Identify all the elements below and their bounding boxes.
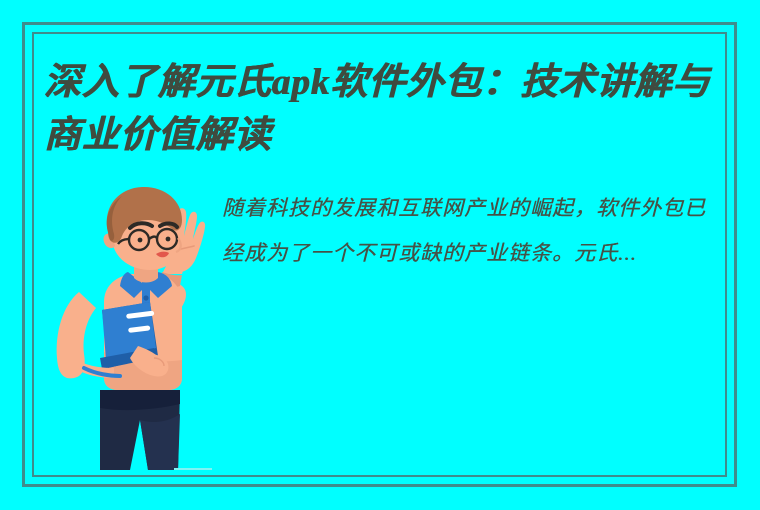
article-excerpt: 随着科技的发展和互联网产业的崛起，软件外包已经成为了一个不可或缺的产业链条。元氏…	[222, 186, 722, 276]
article-title: 深入了解元氏apk软件外包：技术讲解与商业价值解读	[44, 56, 724, 162]
article-card: 深入了解元氏apk软件外包：技术讲解与商业价值解读 随着科技的发展和互联网产业的…	[0, 0, 760, 510]
eye-left	[138, 238, 143, 243]
pants-leg-right	[140, 414, 180, 470]
man-waving-with-book-illustration	[42, 182, 228, 482]
shirt-button-1	[143, 295, 148, 300]
eye-right	[166, 237, 171, 242]
